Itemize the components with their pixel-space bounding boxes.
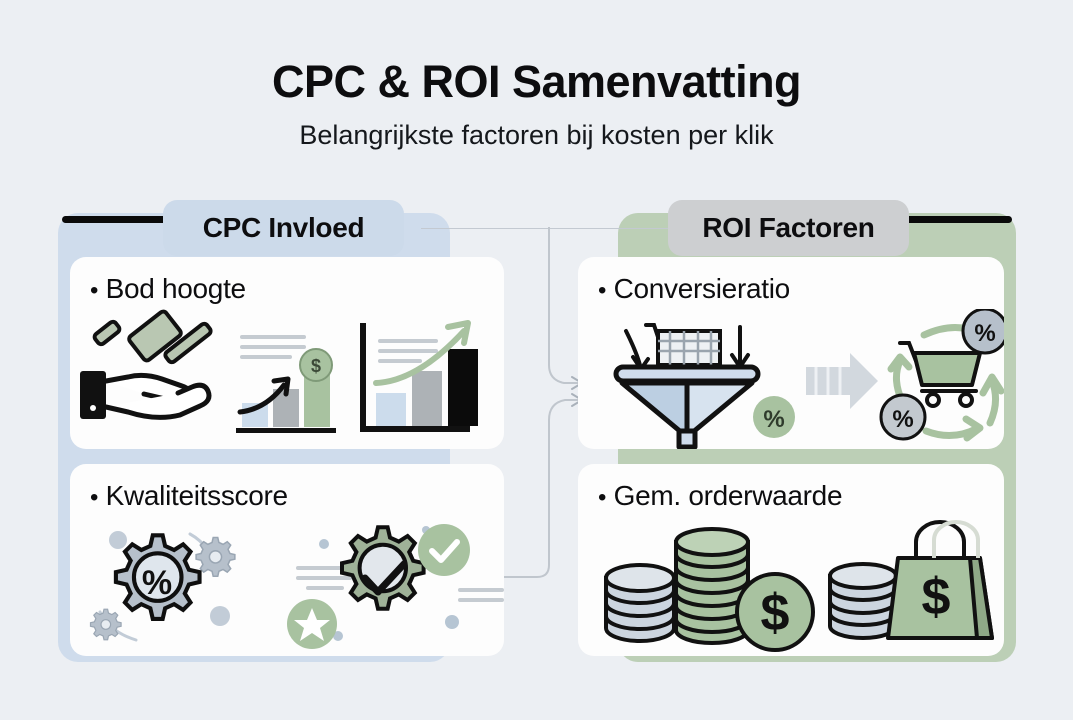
dollar-shopping-bag-icon: $ <box>888 522 992 638</box>
card-conversieratio-label: Conversieratio <box>614 273 790 304</box>
bar-chart-growth-icon <box>360 323 478 432</box>
svg-text:%: % <box>974 320 995 347</box>
svg-text:$: $ <box>761 584 790 642</box>
card-kwaliteitsscore-label: Kwaliteitsscore <box>106 480 288 511</box>
percent-badge-icon: % <box>753 396 795 438</box>
star-circle-badge-icon <box>287 599 337 649</box>
card-conversieratio-title: • Conversieratio <box>598 273 790 305</box>
bullet-icon: • <box>90 484 98 511</box>
section-header-roi-label: ROI Factoren <box>702 212 874 244</box>
card-bod-hoogte[interactable]: • Bod hoogte <box>70 257 504 449</box>
card-gem-orderwaarde-label: Gem. orderwaarde <box>614 480 843 511</box>
green-coin-stack-icon <box>676 529 748 643</box>
percent-badge-icon: % <box>963 309 1004 353</box>
card-conversieratio[interactable]: • Conversieratio <box>578 257 1004 449</box>
card-kwaliteitsscore-illustration: % <box>70 516 504 656</box>
section-header-cpc-label: CPC Invloed <box>203 212 365 244</box>
check-circle-badge-icon <box>418 524 470 576</box>
page-title: CPC & ROI Samenvatting <box>0 56 1073 108</box>
card-conversieratio-illustration: % <box>578 309 1004 449</box>
open-hand-icon <box>80 371 209 419</box>
bullet-icon: • <box>598 484 606 511</box>
svg-text:%: % <box>763 406 784 433</box>
card-gem-orderwaarde-illustration: $ $ <box>578 516 1004 656</box>
section-header-roi: ROI Factoren <box>668 200 909 256</box>
section-header-cpc: CPC Invloed <box>163 200 404 256</box>
card-bod-hoogte-label: Bod hoogte <box>106 273 246 304</box>
card-bod-hoogte-title: • Bod hoogte <box>90 273 246 305</box>
dashed-right-arrow-icon <box>806 353 878 409</box>
card-kwaliteitsscore-title: • Kwaliteitsscore <box>90 480 288 512</box>
svg-text:$: $ <box>311 356 321 376</box>
blue-coin-stack-icon <box>830 564 896 638</box>
page-subtitle: Belangrijkste factoren bij kosten per kl… <box>0 120 1073 151</box>
card-gem-orderwaarde-title: • Gem. orderwaarde <box>598 480 842 512</box>
card-gem-orderwaarde[interactable]: • Gem. orderwaarde <box>578 464 1004 656</box>
percent-gear-icon: % <box>91 531 235 640</box>
bullet-icon: • <box>90 277 98 304</box>
svg-text:%: % <box>142 564 172 602</box>
recycling-cart-icon: % % <box>881 309 1004 439</box>
card-kwaliteitsscore[interactable]: • Kwaliteitsscore <box>70 464 504 656</box>
gavel-icon <box>93 310 212 364</box>
infographic-canvas: CPC & ROI Samenvatting Belangrijkste fac… <box>0 0 1073 720</box>
percent-badge-icon: % <box>881 395 925 439</box>
bullet-icon: • <box>598 277 606 304</box>
card-bod-hoogte-illustration: $ <box>70 309 504 449</box>
check-gear-icon <box>287 524 504 649</box>
blue-coin-stack-icon <box>606 565 674 641</box>
dollar-coin-icon: $ <box>737 574 813 650</box>
svg-text:%: % <box>892 406 913 433</box>
conversion-funnel-icon <box>616 367 758 447</box>
svg-text:$: $ <box>922 568 951 626</box>
bar-chart-rising-icon: $ <box>236 335 336 433</box>
